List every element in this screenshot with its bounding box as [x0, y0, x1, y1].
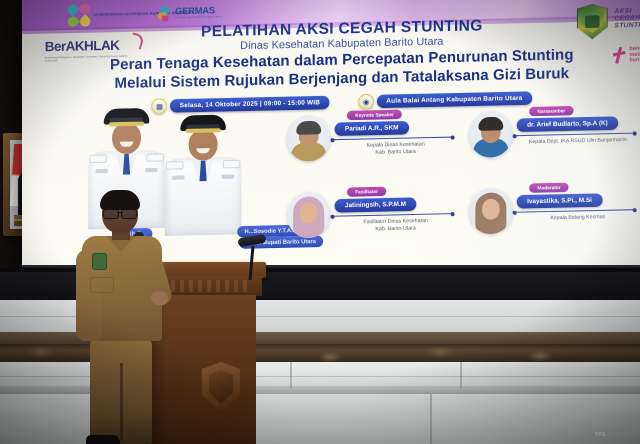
person-hair — [100, 190, 140, 210]
speaker-cards: Keynote Speaker Pariadi A.R., SKM Kepala… — [283, 102, 640, 265]
divider — [515, 209, 635, 213]
speaker-org-line1: Kepala Bidang Kesmas — [515, 213, 640, 223]
glasses-bridge — [117, 212, 123, 213]
kemenkes-mark-icon — [68, 4, 91, 27]
germas-bird-icon — [157, 5, 174, 22]
lens-left — [103, 209, 119, 219]
speaker-org: Kepala Bidang Kesmas — [515, 213, 640, 223]
eyeglasses-icon — [103, 209, 137, 217]
shoulder-board — [166, 161, 184, 170]
speaker-role-badge: Fasilitator — [347, 187, 386, 197]
cap-visor — [109, 122, 144, 127]
lens-right — [121, 209, 137, 219]
speaker-name: Jatiningsih, S.P.M.M — [335, 197, 417, 212]
shoulder-board — [223, 160, 241, 169]
speaker-card-moderator: Moderator Ivayastika, S.Pi., M.Si Kepala… — [465, 179, 640, 257]
speaker-card-narasumber: Narasumber dr. Arief Budiarto, Sp.A (K) … — [465, 102, 640, 180]
photo-scene: PRESIDEN REPUBLIK INDONESIA KEMENTERIAN … — [0, 0, 640, 444]
tile-joint — [430, 394, 432, 444]
speaker-org-line1: Kepala Dept. IKA RSUD Ulin Banjarmasin — [515, 137, 640, 147]
avatar-face — [300, 203, 318, 224]
uniform-emblem — [92, 253, 107, 270]
tile-joint — [290, 362, 292, 388]
cap-visor — [186, 128, 221, 133]
divider — [333, 213, 453, 217]
official-face — [112, 123, 141, 155]
official-badge — [172, 176, 184, 180]
speaker-at-podium — [76, 193, 168, 444]
speaker-org: Kepala Dept. IKA RSUD Ulin Banjarmasin — [515, 137, 640, 147]
avatar-hair — [478, 117, 503, 131]
divider — [515, 133, 635, 137]
speaker-org-line2: Kab. Barito Utara — [333, 224, 459, 234]
speaker-name: dr. Arief Budiarto, Sp.A (K) — [517, 116, 618, 132]
speaker-name: Ivayastika, S.Pi., M.Si — [517, 193, 603, 208]
avatar — [287, 115, 330, 161]
person-leg-split — [120, 363, 123, 441]
watermark: YPS — [595, 432, 606, 438]
person-shoe — [86, 435, 120, 444]
germas-logo: GERMAS Gerakan Masyarakat Hidup Sehat — [157, 4, 222, 22]
uniform-pocket — [90, 277, 114, 293]
official-wakil-bupati — [163, 110, 244, 228]
avatar-face — [482, 199, 500, 220]
official-badge — [95, 169, 107, 173]
speaker-org: Fasilitator Dinas Kesehatan Kab. Barito … — [333, 217, 459, 234]
avatar — [469, 111, 512, 157]
avatar-hair — [296, 121, 321, 135]
person-hand — [151, 291, 168, 305]
speaker-org: Kepala Dinas Kesehatan Kab. Barito Utara — [333, 141, 459, 158]
avatar — [287, 192, 330, 238]
speaker-card-keynote: Keynote Speaker Pariadi A.R., SKM Kepala… — [283, 106, 465, 184]
divider — [333, 137, 453, 141]
official-face — [189, 129, 218, 161]
germas-logo-subtitle: Gerakan Masyarakat Hidup Sehat — [175, 15, 222, 19]
speaker-org-line2: Kab. Barito Utara — [333, 148, 459, 158]
tile-joint — [460, 362, 462, 388]
shoulder-board — [89, 154, 107, 163]
speaker-card-fasilitator: Fasilitator Jatiningsih, S.P.M.M Fasilit… — [283, 183, 465, 261]
speaker-name: Pariadi A.R., SKM — [335, 121, 409, 136]
speaker-role-badge: Keynote Speaker — [347, 110, 402, 121]
speaker-role-badge: Moderator — [529, 183, 569, 193]
shoulder-board — [146, 153, 164, 162]
speaker-role-badge: Narasumber — [529, 106, 573, 116]
avatar — [469, 188, 512, 234]
map-pin-icon: ◉ — [358, 94, 374, 110]
official-badge — [145, 168, 157, 172]
official-badge — [222, 174, 234, 178]
